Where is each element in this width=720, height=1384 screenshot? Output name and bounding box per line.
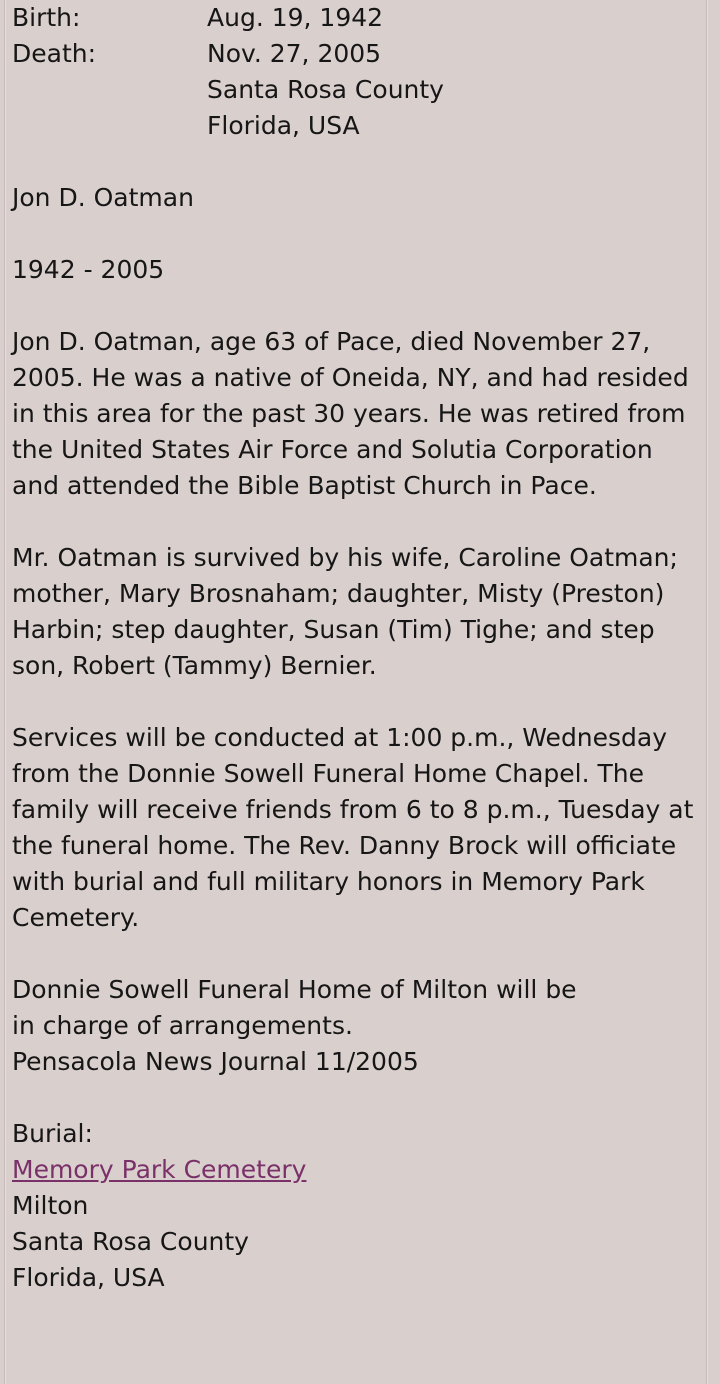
death-date: Nov. 27, 2005 — [207, 36, 687, 72]
burial-county: Santa Rosa County — [12, 1224, 706, 1260]
spacer — [12, 936, 706, 972]
vital-statistics-table: Birth: Aug. 19, 1942 Death: Nov. 27, 200… — [12, 0, 687, 144]
burial-cemetery-row: Memory Park Cemetery — [12, 1152, 706, 1188]
table-row: Death: Nov. 27, 2005 — [12, 36, 687, 72]
birth-date: Aug. 19, 1942 — [207, 0, 687, 36]
spacer — [12, 216, 706, 252]
table-row: Santa Rosa County — [12, 72, 687, 108]
table-row: Florida, USA — [12, 108, 687, 144]
memorial-content: Birth: Aug. 19, 1942 Death: Nov. 27, 200… — [12, 0, 706, 1296]
death-place-county-label — [12, 72, 207, 108]
obituary-paragraph-biography: Jon D. Oatman, age 63 of Pace, died Nove… — [12, 324, 704, 504]
arrangements-line-1: Donnie Sowell Funeral Home of Milton wil… — [12, 972, 706, 1008]
death-place-county: Santa Rosa County — [207, 72, 687, 108]
obituary-paragraph-survivors: Mr. Oatman is survived by his wife, Caro… — [12, 540, 704, 684]
spacer — [12, 144, 706, 180]
cemetery-link[interactable]: Memory Park Cemetery — [12, 1155, 306, 1184]
spacer — [12, 504, 706, 540]
arrangements-line-2: in charge of arrangements. — [12, 1008, 706, 1044]
death-place-state: Florida, USA — [207, 108, 687, 144]
burial-label: Burial: — [12, 1116, 706, 1152]
burial-city: Milton — [12, 1188, 706, 1224]
obituary-paragraph-services: Services will be conducted at 1:00 p.m.,… — [12, 720, 704, 936]
spacer — [12, 288, 706, 324]
death-place-state-label — [12, 108, 207, 144]
memorial-life-span: 1942 - 2005 — [12, 252, 706, 288]
obituary-source-credit: Pensacola News Journal 11/2005 — [12, 1044, 706, 1080]
spacer — [12, 684, 706, 720]
spacer — [12, 1080, 706, 1116]
birth-label: Birth: — [12, 0, 207, 36]
page-right-rule-highlight — [707, 0, 708, 1384]
memorial-record-page: Birth: Aug. 19, 1942 Death: Nov. 27, 200… — [0, 0, 720, 1384]
table-row: Birth: Aug. 19, 1942 — [12, 0, 687, 36]
death-label: Death: — [12, 36, 207, 72]
burial-state-country: Florida, USA — [12, 1260, 706, 1296]
memorial-name: Jon D. Oatman — [12, 180, 706, 216]
page-left-rule-highlight — [5, 0, 6, 1384]
